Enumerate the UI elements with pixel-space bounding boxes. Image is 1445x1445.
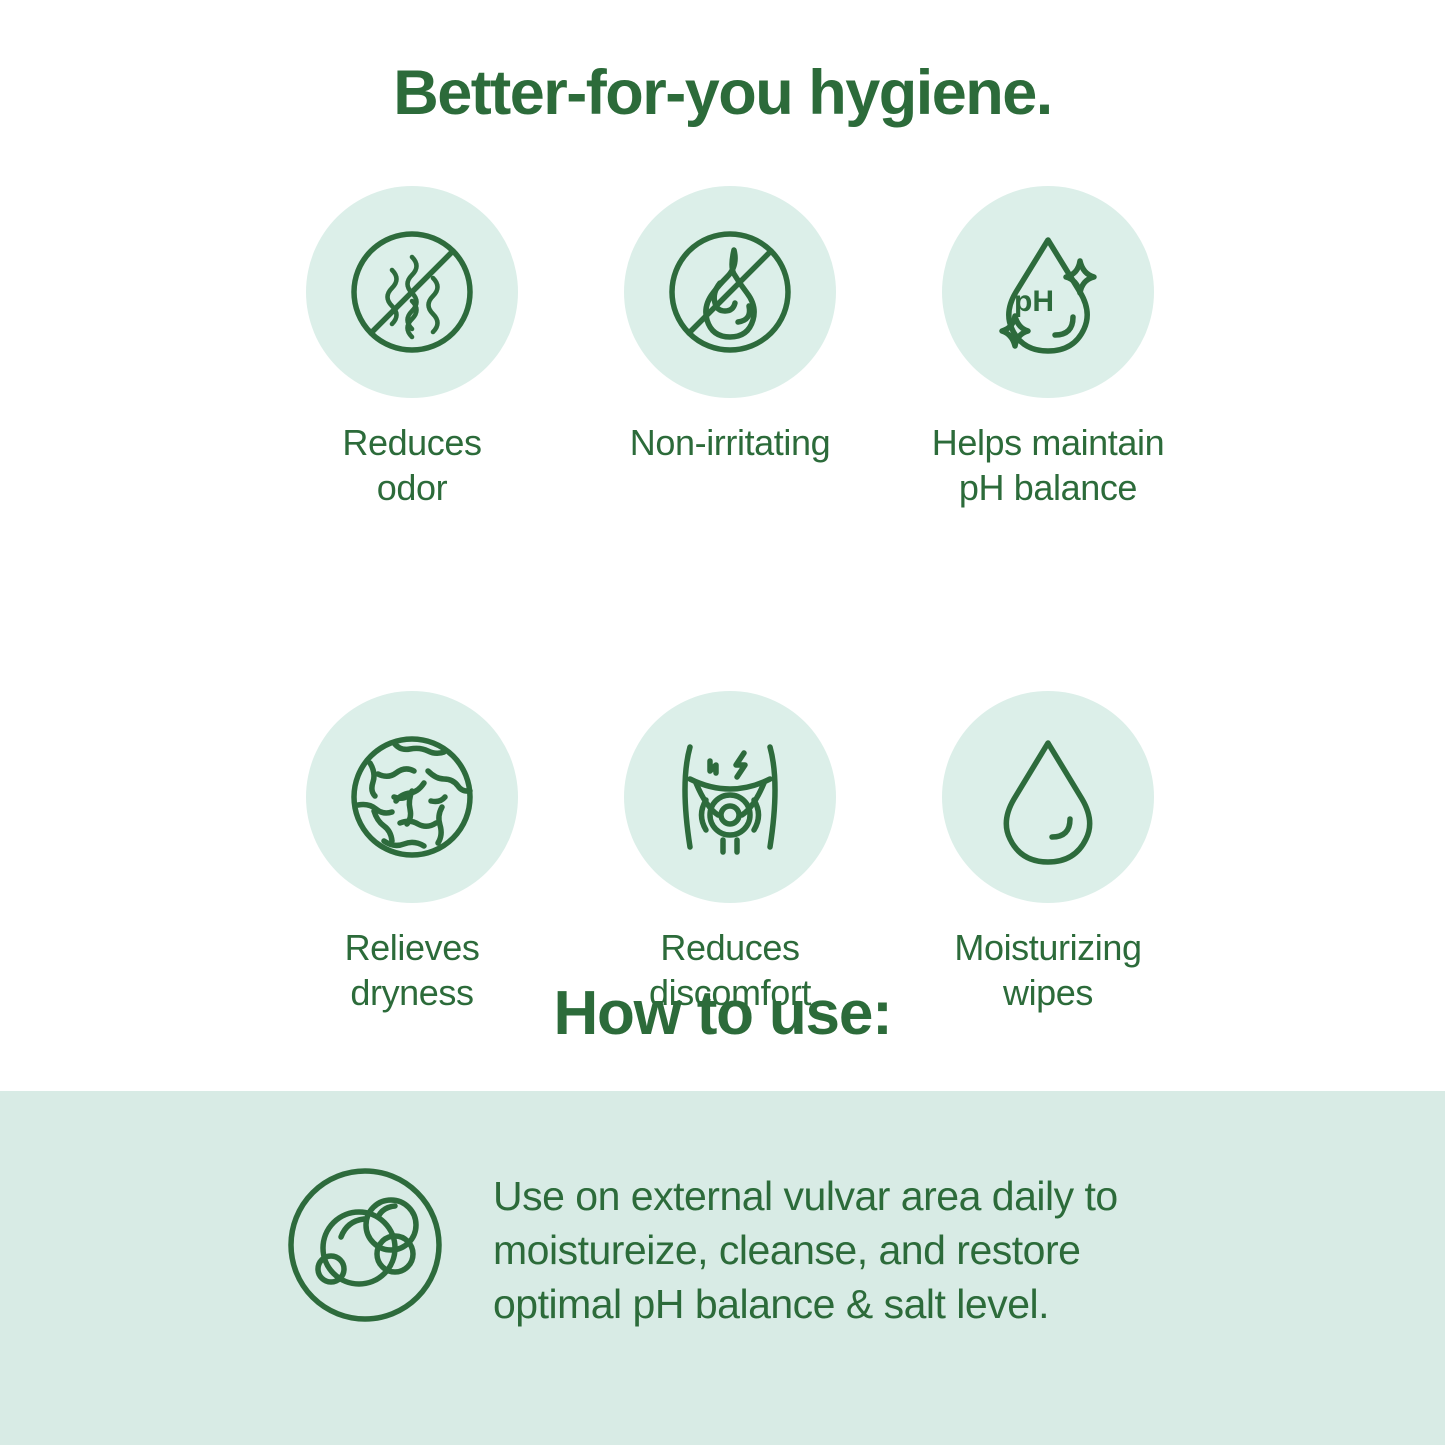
- no-odor-icon: [336, 216, 488, 368]
- how-to-use-instruction: Use on external vulvar area daily to moi…: [493, 1165, 1118, 1331]
- benefits-grid: Reduces odor Non-irritating pH: [268, 186, 1192, 1015]
- benefit-item-relieves-dryness: Relieves dryness: [268, 691, 556, 1015]
- how-to-use-heading: How to use:: [0, 978, 1445, 1049]
- benefit-icon-backdrop: [306, 691, 518, 903]
- how-to-use-icon-wrap: [285, 1165, 445, 1325]
- benefit-label: Non-irritating: [630, 420, 830, 465]
- benefit-icon-backdrop: [624, 691, 836, 903]
- benefit-label: Helps maintain pH balance: [932, 420, 1165, 510]
- ph-label: pH: [1014, 285, 1054, 318]
- benefit-item-reduces-odor: Reduces odor: [268, 186, 556, 510]
- bubbles-icon: [285, 1165, 445, 1325]
- page-title: Better-for-you hygiene.: [0, 62, 1445, 125]
- benefit-icon-backdrop: [942, 691, 1154, 903]
- how-to-use-content: Use on external vulvar area daily to moi…: [285, 1165, 1118, 1331]
- body-discomfort-icon: [654, 721, 806, 873]
- benefit-icon-backdrop: [624, 186, 836, 398]
- benefit-item-ph-balance: pH Helps maintain pH balance: [904, 186, 1192, 510]
- benefit-item-reduces-discomfort: Reduces discomfort: [586, 691, 874, 1015]
- benefit-item-moisturizing-wipes: Moisturizing wipes: [904, 691, 1192, 1015]
- benefit-icon-backdrop: pH: [942, 186, 1154, 398]
- no-flame-icon: [654, 216, 806, 368]
- ph-droplet-icon: pH: [972, 216, 1124, 368]
- how-to-use-panel: Use on external vulvar area daily to moi…: [0, 1091, 1445, 1445]
- benefits-row-2: Relieves dryness: [268, 691, 1192, 1015]
- benefit-label: Reduces odor: [342, 420, 481, 510]
- dry-skin-icon: [336, 721, 488, 873]
- droplet-icon: [972, 721, 1124, 873]
- benefit-icon-backdrop: [306, 186, 518, 398]
- benefit-item-non-irritating: Non-irritating: [586, 186, 874, 465]
- benefits-row-1: Reduces odor Non-irritating pH: [268, 186, 1192, 510]
